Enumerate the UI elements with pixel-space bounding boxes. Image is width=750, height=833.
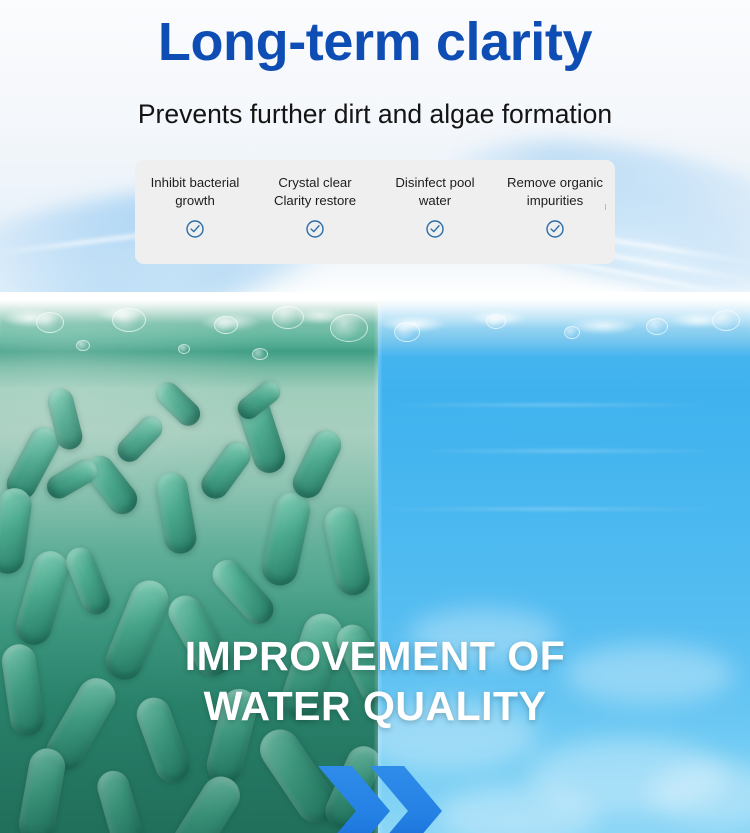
headline-line-1: IMPROVEMENT OF <box>0 631 750 681</box>
ripple <box>388 404 708 406</box>
bubble <box>394 322 420 342</box>
image-headline: IMPROVEMENT OF WATER QUALITY <box>0 631 750 731</box>
bubble <box>486 314 506 329</box>
blue-water-surface-splash <box>378 298 750 350</box>
feature-label: Remove organic impurities <box>503 174 607 209</box>
feature-label: Crystal clear Clarity restore <box>263 174 367 209</box>
clean-water-half <box>378 292 750 833</box>
before-after-water-image: IMPROVEMENT OF WATER QUALITY <box>0 292 750 833</box>
feature-card: Inhibit bacterial growth Crystal clear C… <box>135 160 615 264</box>
check-circle-icon <box>545 219 565 239</box>
green-water-shading <box>0 292 378 833</box>
feature-item-remove-organic-impurities[interactable]: Remove organic impurities <box>495 174 615 264</box>
feature-item-inhibit-bacterial-growth[interactable]: Inhibit bacterial growth <box>135 174 255 264</box>
feature-item-crystal-clear-clarity-restore[interactable]: Crystal clear Clarity restore <box>255 174 375 264</box>
product-feature-banner: Long-term clarity Prevents further dirt … <box>0 0 750 833</box>
bubble <box>564 326 580 339</box>
ripple <box>418 450 718 452</box>
bubble <box>712 310 740 331</box>
contaminated-water-half <box>0 292 378 833</box>
page-subtitle: Prevents further dirt and algae formatio… <box>0 99 750 131</box>
headline-line-2: WATER QUALITY <box>0 681 750 731</box>
page-title: Long-term clarity <box>0 14 750 71</box>
feature-list: Inhibit bacterial growth Crystal clear C… <box>135 160 615 264</box>
feature-label: Disinfect pool water <box>383 174 487 209</box>
check-circle-icon <box>185 219 205 239</box>
bubble <box>646 318 668 335</box>
check-circle-icon <box>425 219 445 239</box>
check-circle-icon <box>305 219 325 239</box>
feature-item-disinfect-pool-water[interactable]: Disinfect pool water <box>375 174 495 264</box>
card-edge-tick <box>605 204 606 210</box>
double-chevron-right-icon <box>318 766 444 833</box>
feature-label: Inhibit bacterial growth <box>143 174 247 209</box>
ripple <box>378 508 718 510</box>
